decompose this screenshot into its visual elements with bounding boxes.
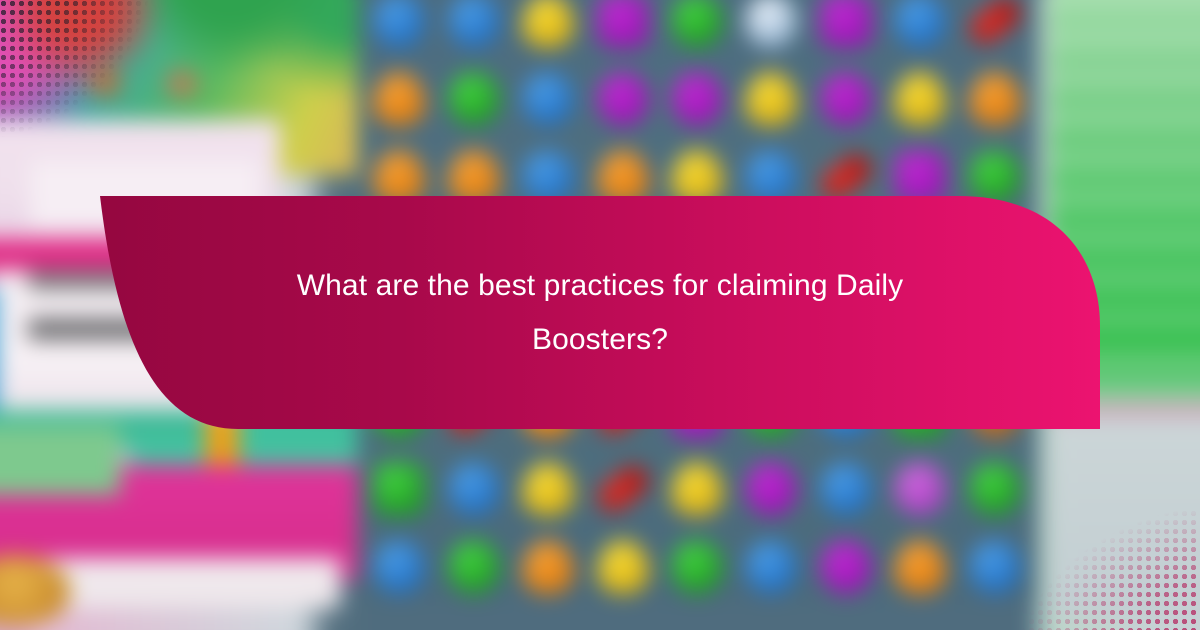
candy-cell (585, 528, 659, 606)
candy-cell (511, 528, 585, 606)
candy-cell (734, 60, 808, 138)
candy-yellow-icon (671, 462, 723, 516)
candy-purple-icon (597, 0, 649, 48)
candy-cell (436, 528, 510, 606)
candy-red-icon (591, 460, 654, 518)
candy-cell (660, 450, 734, 528)
candy-blue-icon (969, 540, 1021, 594)
cookie-icon (166, 70, 198, 98)
candy-cell (883, 528, 957, 606)
candy-cell (362, 450, 436, 528)
candy-cell (660, 60, 734, 138)
candy-green-icon (671, 540, 723, 594)
candy-orange-icon (969, 72, 1021, 126)
candy-red-icon (963, 0, 1026, 50)
title-banner (98, 196, 1100, 429)
candy-purple-icon (820, 0, 872, 48)
candy-cell (883, 60, 957, 138)
candy-blue-icon (448, 0, 500, 48)
candy-cell (809, 0, 883, 60)
candy-cell (660, 0, 734, 60)
candy-green-icon (671, 0, 723, 48)
candy-cell (585, 60, 659, 138)
candy-cell (734, 0, 808, 60)
candy-cell (734, 528, 808, 606)
candy-cell (958, 450, 1032, 528)
banner-shape (100, 196, 1100, 429)
candy-orange-icon (894, 540, 946, 594)
candy-purple-icon (745, 462, 797, 516)
candy-yellow-icon (522, 462, 574, 516)
left-green-strip (0, 425, 120, 495)
candy-cell (809, 528, 883, 606)
candy-purple-icon (671, 72, 723, 126)
candy-cell (734, 450, 808, 528)
candy-green-icon (969, 462, 1021, 516)
candy-orange-icon (373, 72, 425, 126)
candy-cell (511, 450, 585, 528)
candy-cell (362, 0, 436, 60)
candy-yellow-icon (522, 0, 574, 48)
candy-cell (436, 450, 510, 528)
candy-cell (511, 0, 585, 60)
candy-cell (883, 0, 957, 60)
candy-green-icon (448, 540, 500, 594)
candy-cell (809, 60, 883, 138)
candy-yellow-icon (745, 72, 797, 126)
candy-green-icon (373, 462, 425, 516)
candy-cell (585, 450, 659, 528)
candy-cell (436, 60, 510, 138)
candy-white-icon (745, 0, 797, 48)
candy-lilac-icon (894, 462, 946, 516)
candy-yellow-icon (597, 540, 649, 594)
candy-blue-icon (745, 540, 797, 594)
candy-cell (809, 450, 883, 528)
candy-blue-icon (373, 0, 425, 48)
candy-blue-icon (820, 462, 872, 516)
cookie-icon (88, 68, 122, 98)
candy-cell (660, 528, 734, 606)
candy-cell (585, 0, 659, 60)
candy-cell (362, 60, 436, 138)
candy-purple-icon (820, 72, 872, 126)
candy-orange-icon (522, 540, 574, 594)
right-grey-panel (1050, 416, 1200, 616)
candy-blue-icon (373, 540, 425, 594)
candy-green-icon (448, 72, 500, 126)
candy-cell (883, 450, 957, 528)
candy-cell (958, 0, 1032, 60)
candy-cell (958, 60, 1032, 138)
candy-cell (958, 528, 1032, 606)
candy-purple-icon (597, 72, 649, 126)
candy-blue-icon (894, 0, 946, 48)
candy-blue-icon (522, 72, 574, 126)
share-card-canvas: What are the best practices for claiming… (0, 0, 1200, 630)
candy-cell (362, 528, 436, 606)
candy-cell (436, 0, 510, 60)
candy-purple-icon (820, 540, 872, 594)
candy-cell (511, 60, 585, 138)
candy-yellow-icon (894, 72, 946, 126)
candy-blue-icon (448, 462, 500, 516)
